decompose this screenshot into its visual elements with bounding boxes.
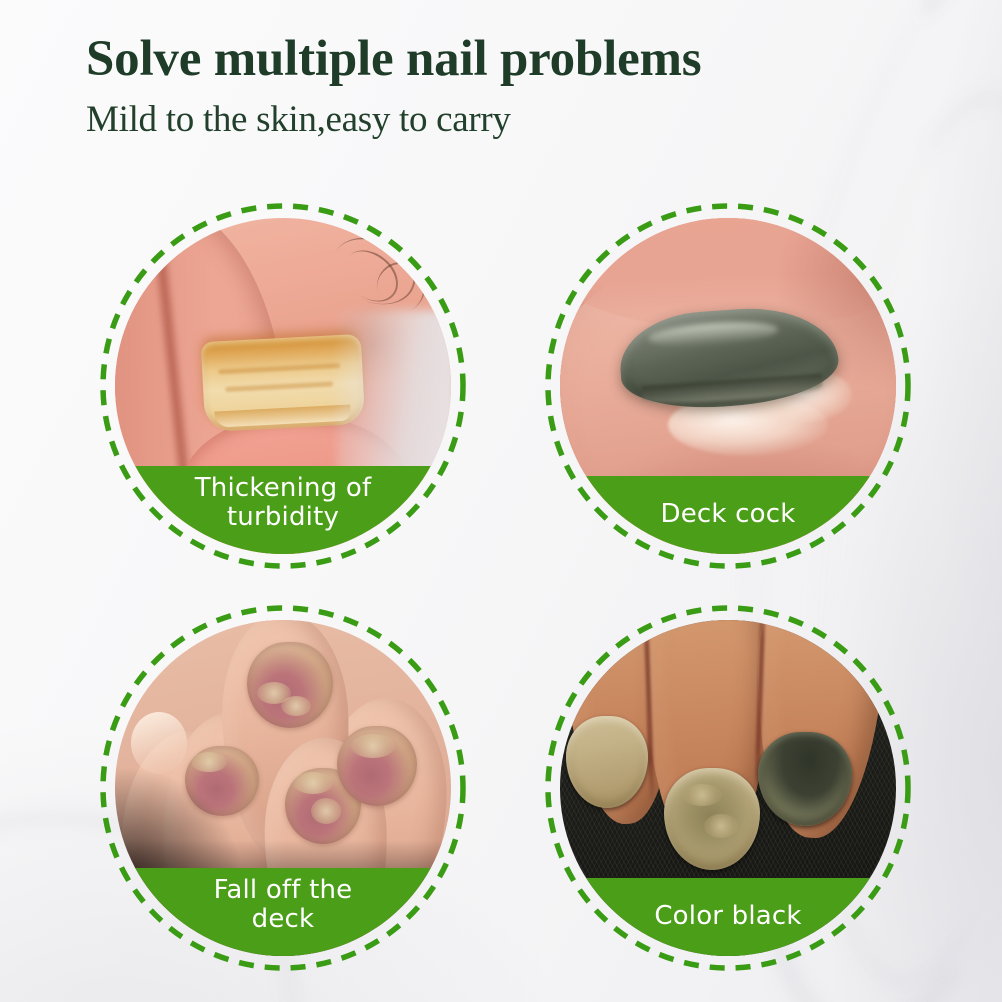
- card-photo: Fall off the deck: [115, 620, 451, 956]
- problem-card[interactable]: Deck cock: [545, 203, 911, 569]
- card-photo: Deck cock: [560, 218, 896, 554]
- problem-card[interactable]: Color black: [545, 605, 911, 971]
- card-caption-band: Color black: [560, 878, 896, 956]
- infographic-canvas: Solve multiple nail problems Mild to the…: [0, 0, 1002, 1002]
- card-caption-text: Thickening of turbidity: [195, 474, 372, 532]
- card-caption-text: Color black: [654, 902, 801, 931]
- problem-card[interactable]: Fall off the deck: [100, 605, 466, 971]
- card-caption-band: Fall off the deck: [115, 868, 451, 956]
- card-caption-band: Deck cock: [560, 476, 896, 554]
- card-caption-text: Deck cock: [661, 500, 796, 529]
- problem-card-grid: Thickening of turbidity: [0, 0, 1002, 1002]
- card-caption-band: Thickening of turbidity: [115, 466, 451, 554]
- card-caption-text: Fall off the deck: [214, 876, 353, 934]
- problem-card[interactable]: Thickening of turbidity: [100, 203, 466, 569]
- card-photo: Thickening of turbidity: [115, 218, 451, 554]
- card-photo: Color black: [560, 620, 896, 956]
